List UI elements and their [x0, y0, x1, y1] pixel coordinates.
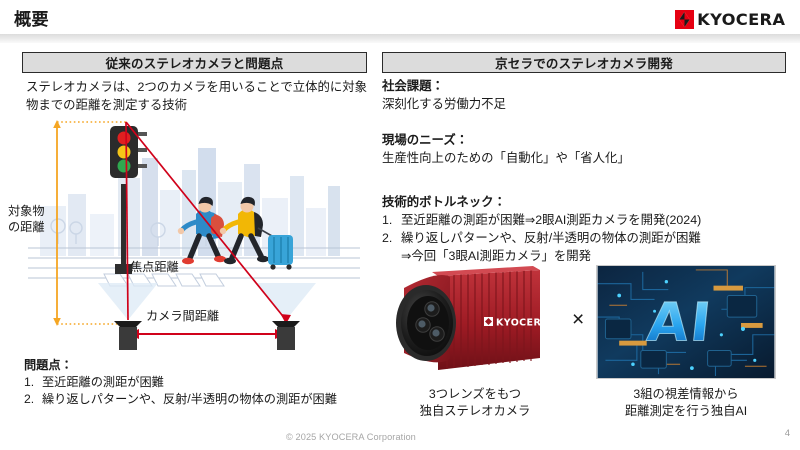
camera-illustration: KYOCERA	[390, 262, 560, 382]
left-intro-text: ステレオカメラは、2つのカメラを用いることで立体的に対象物までの距離を測定する技…	[26, 79, 370, 114]
social-issue-block: 社会課題： 深刻化する労働力不足	[382, 78, 782, 114]
issue-item: 2. 繰り返しパターンや、反射/半透明の物体の測距が困難	[24, 391, 374, 408]
page-title: 概要	[14, 5, 49, 30]
page-number: 4	[785, 428, 790, 439]
copyright-text: © 2025 KYOCERA Corporation	[286, 432, 416, 442]
bottleneck-number: 1.	[382, 212, 401, 230]
issue-text: 繰り返しパターンや、反射/半透明の物体の測距が困難	[42, 391, 374, 408]
social-issue-text: 深刻化する労働力不足	[382, 96, 782, 114]
trinocular-camera-photo: KYOCERA	[390, 262, 560, 382]
logo-wordmark: KYOCERA	[697, 12, 785, 28]
kyocera-diamond-icon	[675, 10, 694, 29]
kyocera-logo: KYOCERA	[675, 10, 785, 29]
left-panel-heading: 従来のステレオカメラと問題点	[22, 52, 367, 73]
field-needs-heading: 現場のニーズ：	[382, 132, 782, 150]
issues-block: 問題点： 1. 至近距離の測距が困難 2. 繰り返しパターンや、反射/半透明の物…	[24, 357, 374, 408]
social-issue-heading: 社会課題：	[382, 78, 782, 96]
ai-illustration: AI AI	[597, 266, 775, 378]
media-row: KYOCERA ×	[382, 262, 786, 450]
bottleneck-heading: 技術的ボトルネック：	[382, 194, 786, 212]
bottleneck-item: 1. 至近距離の測距が困難⇒2眼AI測距カメラを開発(2024)	[382, 212, 786, 230]
stereo-camera-diagram: 対象物 の距離 焦点距離 カメラ間距離	[0, 118, 375, 350]
ai-caption: 3組の視差情報から 距離測定を行う独自AI	[588, 386, 784, 420]
title-divider	[0, 34, 800, 43]
ai-glow-text: AI AI	[644, 292, 715, 354]
issues-heading: 問題点：	[24, 357, 374, 374]
svg-text:AI: AI	[644, 292, 715, 354]
camera-caption: 3つレンズをもつ 独自ステレオカメラ	[382, 386, 568, 420]
right-panel-heading: 京セラでのステレオカメラ開発	[382, 52, 786, 73]
bottleneck-text: 繰り返しパターンや、反射/半透明の物体の測距が困難	[401, 230, 786, 248]
multiply-symbol: ×	[572, 308, 584, 332]
issue-number: 1.	[24, 374, 42, 391]
bottleneck-number: 2.	[382, 230, 401, 248]
issue-item: 1. 至近距離の測距が困難	[24, 374, 374, 391]
svg-text:KYOCERA: KYOCERA	[496, 317, 549, 328]
slide-root: 概要 KYOCERA 従来のステレオカメラと問題点 京セラでのステレオカメラ開発…	[0, 0, 800, 450]
ai-circuit-photo: AI AI	[596, 265, 776, 379]
label-focal-length: 焦点距離	[130, 260, 179, 276]
issue-number: 2.	[24, 391, 42, 408]
bottleneck-block: 技術的ボトルネック： 1. 至近距離の測距が困難⇒2眼AI測距カメラを開発(20…	[382, 194, 786, 266]
issue-text: 至近距離の測距が困難	[42, 374, 374, 391]
field-needs-block: 現場のニーズ： 生産性向上のための「自動化」や「省人化」	[382, 132, 782, 168]
bottleneck-item: 2. 繰り返しパターンや、反射/半透明の物体の測距が困難	[382, 230, 786, 248]
field-needs-text: 生産性向上のための「自動化」や「省人化」	[382, 150, 782, 168]
label-baseline: カメラ間距離	[146, 309, 219, 325]
label-target-distance: 対象物 の距離	[8, 204, 45, 236]
bottleneck-text: 至近距離の測距が困難⇒2眼AI測距カメラを開発(2024)	[401, 212, 786, 230]
